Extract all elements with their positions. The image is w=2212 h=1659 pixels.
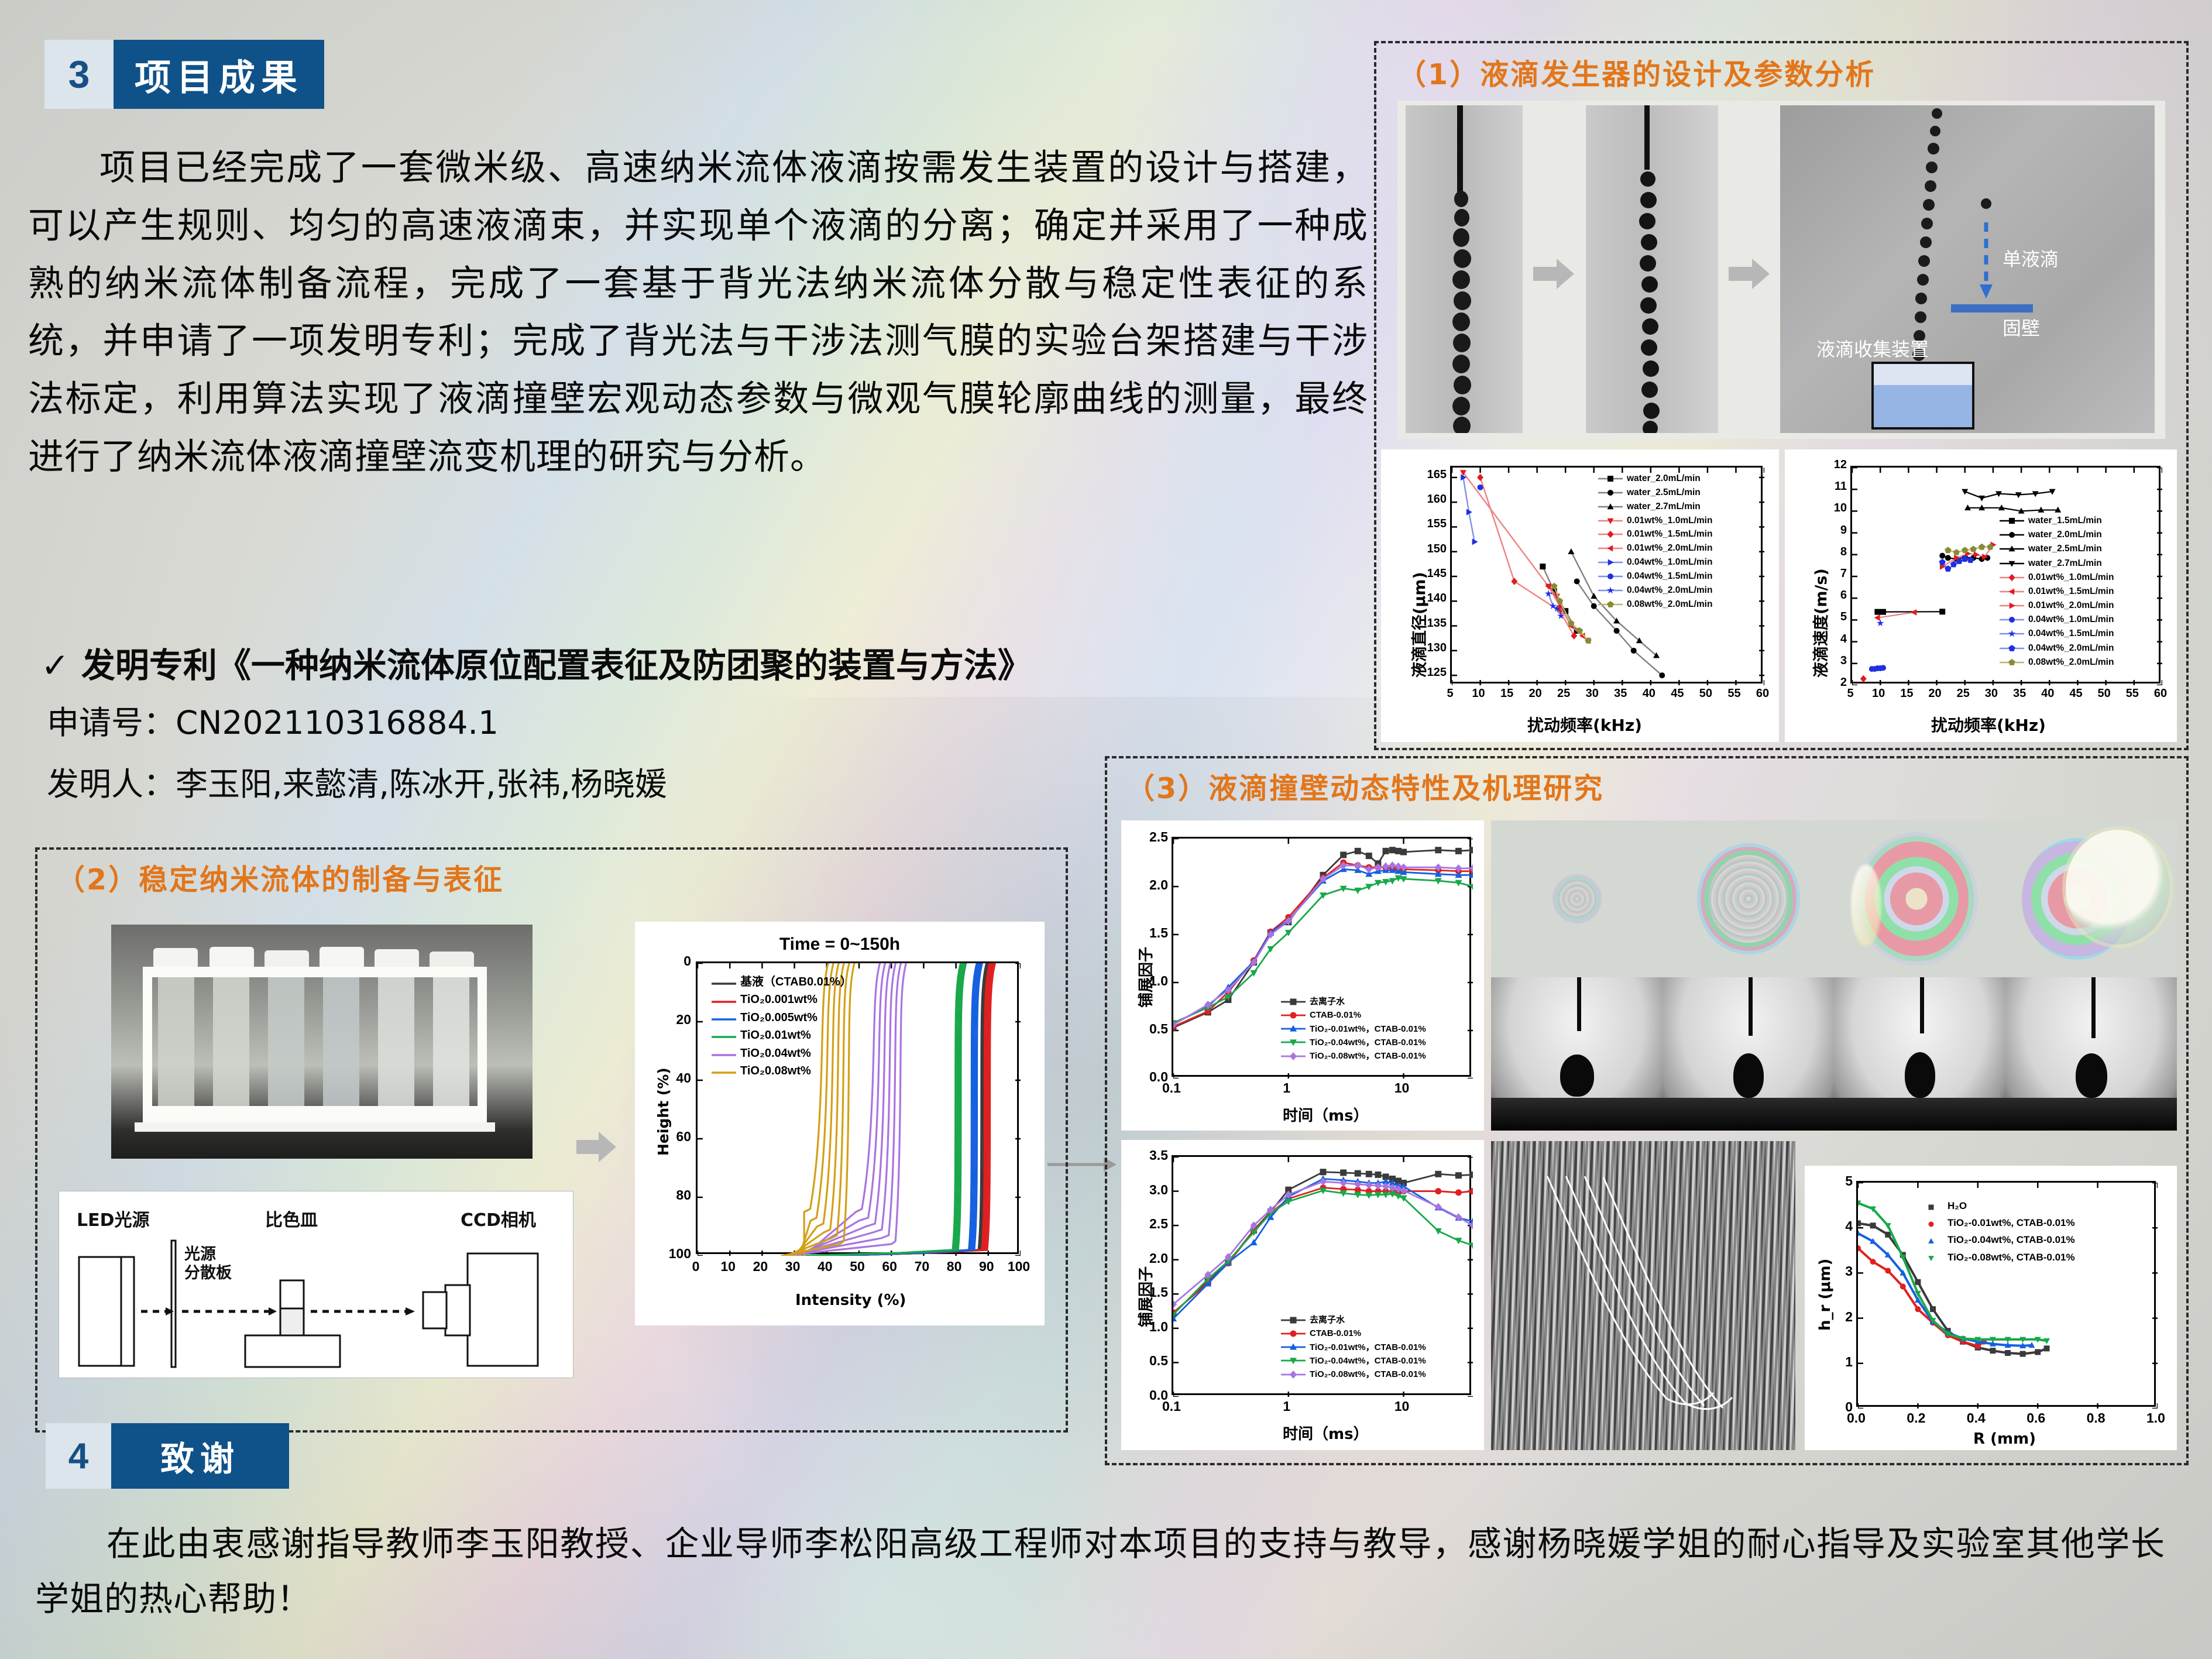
label-cuvette: 比色皿 <box>265 1205 318 1231</box>
legend-item: TiO₂-0.04wt%, CTAB-0.01% <box>1918 1231 2075 1248</box>
x-tick-label: 20 <box>1920 687 1950 700</box>
x-tick-label: 50 <box>2089 687 2120 700</box>
legend-item: TiO₂-0.01wt%, CTAB-0.01% <box>1918 1214 2075 1231</box>
section-header-thanks: 4 致谢 <box>46 1423 289 1489</box>
legend-item: TiO₂-0.04wt%，CTAB-0.01% <box>1280 1354 1426 1368</box>
y-tick-label: 2.5 <box>1136 829 1168 845</box>
legend-label: TiO₂-0.04wt%，CTAB-0.01% <box>1310 1354 1426 1368</box>
legend-item: water_2.0mL/min <box>1598 472 1712 486</box>
sideview-frame-3 <box>1834 977 2005 1131</box>
legend-item: water_2.7mL/min <box>1999 557 2114 571</box>
y-tick-label: 20 <box>657 1012 691 1028</box>
legend-label: water_2.0mL/min <box>1627 472 1701 486</box>
x-tick-label: 90 <box>969 1259 1004 1275</box>
y-tick-label: 7 <box>1815 567 1847 581</box>
x-tick-label: 30 <box>1577 687 1608 700</box>
y-tick-label: 130 <box>1415 641 1447 655</box>
legend-item: 0.01wt%_2.0mL/min <box>1999 599 2114 613</box>
y-tick-label: 6 <box>1815 589 1847 602</box>
legend-label: H₂O <box>1947 1197 1967 1214</box>
section-number-thanks: 4 <box>46 1423 111 1489</box>
section-number-results: 3 <box>44 40 114 109</box>
y-tick-label: 4 <box>1821 1218 1853 1234</box>
test-tube-photo <box>111 925 533 1159</box>
x-tick-label: 50 <box>840 1259 875 1275</box>
y-tick-label: 1.0 <box>1136 973 1168 989</box>
legend-item: 0.04wt%_1.5mL/min <box>1999 627 2114 641</box>
x-tick-label: 30 <box>775 1259 810 1275</box>
legend-item: H₂O <box>1918 1197 2075 1214</box>
legend-label: 去离子水 <box>1310 1313 1345 1327</box>
y-tick-label: 100 <box>657 1246 691 1262</box>
legend-label: water_2.0mL/min <box>2028 528 2102 542</box>
legend-label: water_2.7mL/min <box>1627 500 1701 514</box>
chart-vel-xlabel: 扰动频率(kHz) <box>1931 713 2046 736</box>
x-tick-label: 1.0 <box>2141 1410 2171 1426</box>
impact-image-strip <box>1491 820 2177 1131</box>
x-tick-label: 55 <box>2117 687 2148 700</box>
patent-application-number: CN202110316884.1 <box>176 704 499 741</box>
x-tick-label: 5 <box>1435 687 1465 700</box>
y-tick-label: 140 <box>1415 592 1447 605</box>
check-icon: ✓ <box>41 645 70 685</box>
generator-photo-strip: 单液滴 固壁 液滴收集装置 <box>1397 101 2165 439</box>
patent-inventors-label: 发明人： <box>47 765 176 803</box>
legend-item: TiO₂0.08wt% <box>711 1062 852 1080</box>
x-tick-label: 10 <box>710 1259 746 1275</box>
x-tick-label: 40 <box>808 1259 843 1275</box>
section-title-thanks: 致谢 <box>111 1423 289 1489</box>
legend-item: 0.08wt%_2.0mL/min <box>1999 655 2114 669</box>
x-tick-label: 40 <box>2032 687 2063 700</box>
x-tick-label: 1 <box>1272 1080 1302 1096</box>
legend-item: 0.04wt%_2.0mL/min <box>1598 583 1712 597</box>
legend-item: 去离子水 <box>1280 1313 1426 1327</box>
legend-item: water_2.0mL/min <box>1999 528 2114 542</box>
jet-photo-a <box>1406 105 1523 433</box>
patent-application-label: 申请号： <box>47 704 176 741</box>
section-title-results: 项目成果 <box>114 40 324 109</box>
y-tick-label: 9 <box>1815 524 1847 537</box>
label-ccd-camera: CCD相机 <box>461 1205 536 1231</box>
results-paragraph: 项目已经完成了一套微米级、高速纳米流体液滴按需发生装置的设计与搭建，可以产生规则… <box>28 139 1368 486</box>
x-tick-label: 20 <box>743 1259 778 1275</box>
legend-item: CTAB-0.01% <box>1280 1008 1426 1022</box>
legend-item: 0.08wt%_2.0mL/min <box>1598 597 1712 612</box>
y-tick-label: 11 <box>1815 480 1847 493</box>
section-header-results: 3 项目成果 <box>44 40 324 109</box>
x-tick-label: 55 <box>1719 687 1749 700</box>
legend-label: 0.01wt%_1.5mL/min <box>2028 585 2114 599</box>
x-tick-label: 70 <box>904 1259 939 1275</box>
x-tick-label: 35 <box>2004 687 2035 700</box>
patent-application-row: 申请号：CN202110316884.1 <box>47 696 499 743</box>
legend-label: TiO₂0.001wt% <box>740 991 818 1008</box>
sideview-frame-1 <box>1491 977 1663 1131</box>
patent-title-row: ✓ 发明专利《一种纳米流体原位配置表征及防团聚的装置与方法》 <box>41 638 1375 687</box>
legend-item: water_1.5mL/min <box>1999 514 2114 528</box>
x-tick-label: 0.4 <box>1961 1410 1991 1426</box>
legend-label: 0.01wt%_1.0mL/min <box>2028 571 2114 585</box>
legend-item: CTAB-0.01% <box>1280 1327 1426 1340</box>
legend-item: 0.01wt%_1.5mL/min <box>1598 527 1712 541</box>
flow-arrow-icon-1 <box>1533 257 1575 290</box>
legend-item: 0.04wt%_1.0mL/min <box>1598 555 1712 569</box>
y-tick-label: 150 <box>1415 542 1447 556</box>
flow-arrow-icon-2 <box>1729 257 1771 290</box>
legend-label: TiO₂0.005wt% <box>740 1009 818 1026</box>
y-tick-label: 12 <box>1815 458 1847 472</box>
legend-label: water_2.5mL/min <box>2028 542 2102 556</box>
legend-label: TiO₂-0.04wt%，CTAB-0.01% <box>1310 1036 1426 1049</box>
y-tick-label: 155 <box>1415 517 1447 531</box>
backlight-diagram: LED光源 光源 分散板 比色皿 CCD相机 <box>59 1191 573 1378</box>
panel-3-title: （3）液滴撞壁动态特性及机理研究 <box>1126 765 1604 807</box>
legend-item: water_2.5mL/min <box>1598 486 1712 500</box>
y-tick-label: 10 <box>1815 502 1847 515</box>
chart-air-film-thickness: h_r (μm) R (mm) 0.00.20.40.60.81.0012345… <box>1805 1166 2177 1450</box>
y-tick-label: 60 <box>657 1129 691 1145</box>
legend-item: water_2.5mL/min <box>1999 542 2114 556</box>
label-collector: 液滴收集装置 <box>1816 335 1929 362</box>
x-tick-label: 0.2 <box>1901 1410 1931 1426</box>
y-tick-label: 0.5 <box>1136 1353 1168 1369</box>
legend-label: water_2.7mL/min <box>2028 557 2102 571</box>
sideview-frame-4 <box>2005 977 2177 1131</box>
chart-sf1-xlabel: 时间（ms） <box>1283 1104 1369 1125</box>
y-tick-label: 0.0 <box>1136 1387 1168 1403</box>
legend-label: 0.04wt%_1.0mL/min <box>1627 555 1712 569</box>
x-tick-label: 10 <box>1387 1080 1417 1096</box>
y-tick-label: 0 <box>657 953 691 969</box>
legend-label: 0.04wt%_1.5mL/min <box>1627 569 1712 583</box>
panel-2-title: （2）稳定纳米流体的制备与表征 <box>56 857 504 898</box>
y-tick-label: 2.5 <box>1136 1216 1168 1232</box>
chart-airfilm-xlabel: R (mm) <box>1973 1430 2036 1448</box>
legend-item: 0.01wt%_1.0mL/min <box>1598 514 1712 528</box>
legend-item: TiO₂0.005wt% <box>711 1009 852 1026</box>
x-tick-label: 10 <box>1464 687 1494 700</box>
x-tick-label: 60 <box>2145 687 2176 700</box>
y-tick-label: 2.0 <box>1136 1251 1168 1266</box>
y-tick-label: 2 <box>1821 1309 1853 1325</box>
y-tick-label: 0.0 <box>1136 1069 1168 1085</box>
y-tick-label: 2 <box>1815 676 1847 689</box>
x-tick-label: 10 <box>1387 1399 1417 1414</box>
y-tick-label: 4 <box>1815 633 1847 646</box>
x-tick-label: 80 <box>937 1259 972 1275</box>
x-tick-label: 100 <box>1001 1259 1036 1275</box>
legend-label: TiO₂-0.04wt%, CTAB-0.01% <box>1947 1231 2075 1248</box>
x-tick-label: 25 <box>1548 687 1579 700</box>
y-tick-label: 135 <box>1415 617 1447 630</box>
label-led-source: LED光源 <box>77 1205 150 1231</box>
x-tick-label: 50 <box>1691 687 1721 700</box>
chart-stability: Time = 0~150h Height (%) Intensity (%) 0… <box>635 922 1045 1325</box>
x-tick-label: 20 <box>1520 687 1551 700</box>
legend-item: water_2.7mL/min <box>1598 500 1712 514</box>
legend-label: 0.04wt%_2.0mL/min <box>1627 583 1712 597</box>
chart-droplet-velocity: 液滴速度(m/s) 扰动频率(kHz) 51015202530354045505… <box>1785 449 2177 742</box>
acknowledgement-text: 在此由衷感谢指导教师李玉阳教授、企业导师李松阳高级工程师对本项目的支持与教导，感… <box>35 1517 2165 1627</box>
legend-label: TiO₂0.01wt% <box>740 1026 811 1044</box>
legend-label: 0.08wt%_2.0mL/min <box>2028 655 2114 669</box>
legend-item: 0.01wt%_1.5mL/min <box>1999 585 2114 599</box>
legend-label: TiO₂-0.01wt%，CTAB-0.01% <box>1310 1341 1426 1354</box>
label-diffuser: 光源 分散板 <box>184 1245 232 1283</box>
label-single-droplet: 单液滴 <box>2003 245 2059 272</box>
legend-label: TiO₂-0.08wt%，CTAB-0.01% <box>1310 1368 1426 1381</box>
legend-item: TiO₂-0.04wt%，CTAB-0.01% <box>1280 1036 1426 1049</box>
y-tick-label: 125 <box>1415 666 1447 679</box>
legend-label: TiO₂0.08wt% <box>740 1062 811 1080</box>
legend-item: 0.04wt%_1.5mL/min <box>1598 569 1712 583</box>
y-tick-label: 0.5 <box>1136 1021 1168 1037</box>
legend-label: 0.04wt%_1.5mL/min <box>2028 627 2114 641</box>
legend-item: TiO₂-0.01wt%，CTAB-0.01% <box>1280 1022 1426 1036</box>
legend-label: 0.01wt%_1.5mL/min <box>1627 527 1712 541</box>
legend-item: TiO₂-0.08wt%, CTAB-0.01% <box>1918 1249 2075 1266</box>
x-tick-label: 15 <box>1492 687 1522 700</box>
legend-item: TiO₂0.04wt% <box>711 1045 852 1062</box>
x-tick-label: 45 <box>2060 687 2091 700</box>
y-tick-label: 5 <box>1815 610 1847 624</box>
y-tick-label: 3 <box>1815 654 1847 668</box>
legend-item: 0.04wt%_2.0mL/min <box>1999 641 2114 655</box>
chart-sf2-xlabel: 时间（ms） <box>1283 1422 1369 1444</box>
x-tick-label: 60 <box>872 1259 907 1275</box>
interferogram-frame-4 <box>2005 820 2177 977</box>
x-tick-label: 0.6 <box>2021 1410 2051 1426</box>
chart-spreading-factor-2: 铺展因子 时间（ms） 0.11100.00.51.01.52.02.53.03… <box>1121 1140 1484 1450</box>
y-tick-label: 5 <box>1821 1173 1853 1189</box>
interferogram-frame-1 <box>1491 820 1663 977</box>
jet-photo-b <box>1586 105 1718 433</box>
legend-label: TiO₂-0.01wt%，CTAB-0.01% <box>1310 1022 1426 1036</box>
legend-item: 0.01wt%_1.0mL/min <box>1999 571 2114 585</box>
x-tick-label: 25 <box>1948 687 1979 700</box>
legend-label: 去离子水 <box>1310 995 1345 1008</box>
legend-label: CTAB-0.01% <box>1310 1327 1361 1340</box>
patent-inventors-row: 发明人：李玉阳,来懿清,陈冰开,张祎,杨晓媛 <box>47 758 667 805</box>
y-tick-label: 160 <box>1415 493 1447 506</box>
patent-title-text: 发明专利《一种纳米流体原位配置表征及防团聚的装置与方法》 <box>81 645 1032 685</box>
interferogram-frame-2 <box>1663 820 1834 977</box>
y-tick-label: 1 <box>1821 1354 1853 1370</box>
legend-label: 基液（CTAB0.01%） <box>740 973 852 991</box>
legend-item: TiO₂0.01wt% <box>711 1026 852 1044</box>
x-tick-label: 40 <box>1634 687 1664 700</box>
sideview-frame-2 <box>1663 977 1834 1131</box>
y-tick-label: 40 <box>657 1070 691 1086</box>
chart-stability-title: Time = 0~150h <box>635 935 1045 954</box>
chart-spreading-factor-1: 铺展因子 时间（ms） 0.11100.00.51.01.52.02.5 去离子… <box>1121 820 1484 1131</box>
legend-label: 0.08wt%_2.0mL/min <box>1627 597 1712 612</box>
legend-label: 0.04wt%_1.0mL/min <box>2028 613 2114 627</box>
y-tick-label: 3 <box>1821 1263 1853 1279</box>
x-tick-label: 0.8 <box>2081 1410 2111 1426</box>
chart-dia-xlabel: 扰动频率(kHz) <box>1527 713 1642 736</box>
legend-item: 基液（CTAB0.01%） <box>711 973 852 991</box>
y-tick-label: 145 <box>1415 567 1447 581</box>
legend-item: 去离子水 <box>1280 995 1426 1008</box>
chart-stability-xlabel: Intensity (%) <box>795 1292 906 1309</box>
legend-item: TiO₂0.001wt% <box>711 991 852 1008</box>
x-tick-label: 60 <box>1747 687 1778 700</box>
y-tick-label: 2.0 <box>1136 877 1168 893</box>
y-tick-label: 1.0 <box>1136 1319 1168 1335</box>
legend-item: TiO₂-0.01wt%，CTAB-0.01% <box>1280 1341 1426 1354</box>
legend-item: TiO₂-0.08wt%，CTAB-0.01% <box>1280 1049 1426 1063</box>
label-solid-wall: 固壁 <box>2003 314 2040 341</box>
y-tick-label: 8 <box>1815 545 1847 559</box>
y-tick-label: 1.5 <box>1136 1284 1168 1300</box>
x-tick-label: 45 <box>1662 687 1692 700</box>
x-tick-label: 35 <box>1605 687 1636 700</box>
legend-label: CTAB-0.01% <box>1310 1008 1361 1022</box>
x-tick-label: 15 <box>1891 687 1922 700</box>
legend-label: TiO₂-0.08wt%, CTAB-0.01% <box>1947 1249 2075 1266</box>
legend-label: water_1.5mL/min <box>2028 514 2102 528</box>
y-tick-label: 80 <box>657 1187 691 1203</box>
legend-label: TiO₂0.04wt% <box>740 1045 811 1062</box>
y-tick-label: 1.5 <box>1136 925 1168 941</box>
x-tick-label: 10 <box>1863 687 1894 700</box>
flow-arrow-icon-3 <box>576 1131 617 1163</box>
y-tick-label: 3.5 <box>1136 1148 1168 1163</box>
legend-label: 0.04wt%_2.0mL/min <box>2028 641 2114 655</box>
y-tick-label: 165 <box>1415 468 1447 482</box>
legend-item: TiO₂-0.08wt%，CTAB-0.01% <box>1280 1368 1426 1381</box>
separation-photo: 单液滴 固壁 液滴收集装置 <box>1780 105 2155 433</box>
legend-item: 0.04wt%_1.0mL/min <box>1999 613 2114 627</box>
patent-inventors-names: 李玉阳,来懿清,陈冰开,张祎,杨晓媛 <box>176 765 667 803</box>
legend-label: 0.01wt%_2.0mL/min <box>2028 599 2114 613</box>
legend-label: TiO₂-0.08wt%，CTAB-0.01% <box>1310 1049 1426 1063</box>
y-tick-label: 3.0 <box>1136 1182 1168 1198</box>
chart-droplet-diameter: 液滴直径(μm) 扰动频率(kHz) 510152025303540455055… <box>1381 449 1779 742</box>
legend-label: 0.01wt%_1.0mL/min <box>1627 514 1712 528</box>
interferogram-frame-3 <box>1834 820 2005 977</box>
x-tick-label: 1 <box>1272 1399 1302 1414</box>
legend-item: 0.01wt%_2.0mL/min <box>1598 541 1712 555</box>
x-tick-label: 30 <box>1976 687 2007 700</box>
fringe-pattern-photo <box>1491 1141 1795 1450</box>
y-tick-label: 0 <box>1821 1399 1853 1415</box>
legend-label: TiO₂-0.01wt%, CTAB-0.01% <box>1947 1214 2075 1231</box>
legend-label: water_2.5mL/min <box>1627 486 1701 500</box>
legend-label: 0.01wt%_2.0mL/min <box>1627 541 1712 555</box>
panel-1-title: （1）液滴发生器的设计及参数分析 <box>1397 51 1876 93</box>
